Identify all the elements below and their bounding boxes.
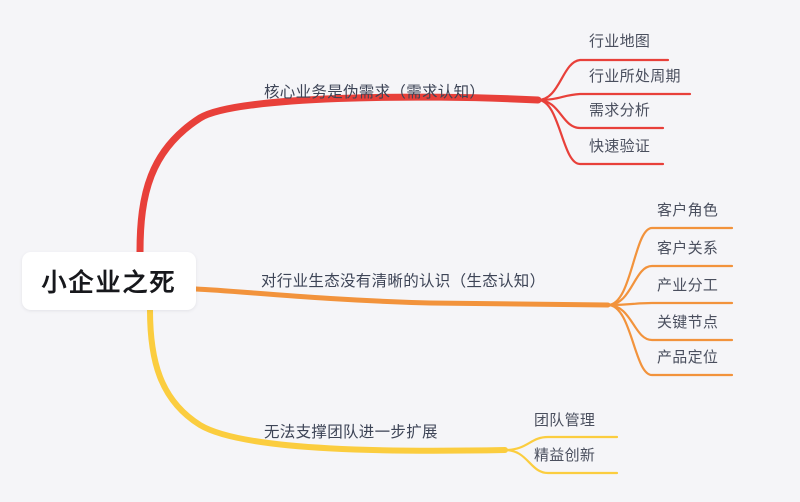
branch-3-child-2-label[interactable]: 精益创新 xyxy=(534,444,595,465)
branch-3-label[interactable]: 无法支撑团队进一步扩展 xyxy=(264,420,438,442)
mindmap-canvas: 小企业之死 核心业务是伪需求（需求认知） 行业地图 行业所处周期 需求分析 快速… xyxy=(0,0,800,502)
branch-2-trunk xyxy=(196,289,608,305)
branch-2-label[interactable]: 对行业生态没有清晰的认识（生态认知） xyxy=(261,269,545,291)
root-node-label: 小企业之死 xyxy=(41,263,176,299)
branch-1-trunk xyxy=(140,97,538,252)
branch-3-child-1-label[interactable]: 团队管理 xyxy=(534,409,595,430)
branch-1-child-1-label[interactable]: 行业地图 xyxy=(589,30,650,51)
branch-2-child-5-label[interactable]: 产品定位 xyxy=(657,346,718,367)
branch-1-child-3-label[interactable]: 需求分析 xyxy=(589,99,650,120)
branch-1-child-2-label[interactable]: 行业所处周期 xyxy=(589,65,681,86)
branch-2-leaf-edge-3 xyxy=(608,303,732,305)
branch-1-child-4-label[interactable]: 快速验证 xyxy=(589,135,650,156)
root-node[interactable]: 小企业之死 xyxy=(22,252,196,310)
branch-2-child-1-label[interactable]: 客户角色 xyxy=(657,199,718,220)
branch-2-child-3-label[interactable]: 产业分工 xyxy=(657,274,718,295)
branch-1-label[interactable]: 核心业务是伪需求（需求认知） xyxy=(264,80,485,102)
branch-2-child-4-label[interactable]: 关键节点 xyxy=(657,311,718,332)
branch-2-child-2-label[interactable]: 客户关系 xyxy=(657,237,718,258)
branch-2-edges xyxy=(196,228,732,375)
